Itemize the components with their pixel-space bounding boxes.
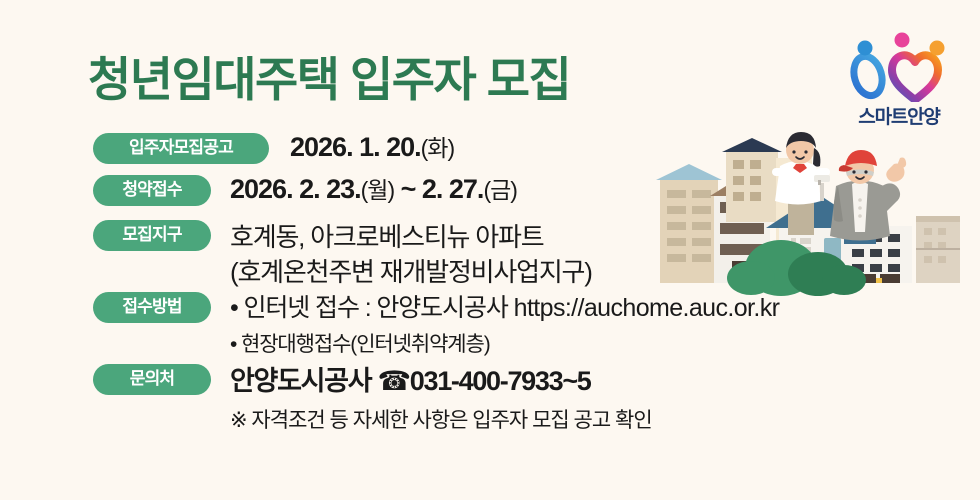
logo-heart-shape [892,55,938,100]
logo-loop-shape [850,53,887,99]
apply-period: 2026. 2. 23.(월) ~ 2. 27.(금) [230,175,517,203]
badge-apply: 청약접수 [93,175,211,206]
apply-start-dow: (월) [361,177,394,203]
notice-date-value: 2026. 1. 20. [290,132,421,162]
row-notice: 입주자모집공고 2026. 1. 20.(화) [93,133,454,164]
apply-end-date: ~ 2. 27. [394,174,483,204]
thumbs-up-hand [886,158,906,182]
badge-contact: 문의처 [93,364,211,395]
logo-dot-orange [930,41,945,56]
row-contact: 문의처 안양도시공사 ☎031-400-7933~5 ※ 자격조건 등 자세한 … [93,364,652,434]
logo-dot-blue [858,41,873,56]
building-right-tower [916,216,960,283]
smart-anyang-logo-text: 스마트안양 [838,102,960,129]
poster-canvas: 청년임대주택 입주자 모집 입주자모집공고 2026. 1. 20.(화) 청약… [0,0,980,500]
contact-phone: 안양도시공사 ☎031-400-7933~5 [230,364,652,399]
badge-method: 접수방법 [93,292,211,323]
smart-anyang-logo-mark [838,30,960,102]
notice-date: 2026. 1. 20.(화) [290,133,454,161]
district-value: 호계동, 아크로베스티뉴 아파트 (호계온천주변 재개발정비사업지구) [230,220,592,290]
badge-district: 모집지구 [93,220,211,251]
logo-dot-pink [895,33,910,48]
row-apply: 청약접수 2026. 2. 23.(월) ~ 2. 27.(금) [93,175,517,206]
district-line-1: 호계동, 아크로베스티뉴 아파트 [230,220,592,255]
city-illustration-svg [648,128,980,303]
apply-end-dow: (금) [483,177,516,203]
contact-value: 안양도시공사 ☎031-400-7933~5 ※ 자격조건 등 자세한 사항은 … [230,364,652,434]
building-left-apartment [656,164,722,283]
contact-footnote: ※ 자격조건 등 자세한 사항은 입주자 모집 공고 확인 [230,407,652,434]
method-online-label: • 인터넷 접수 : 안양도시공사 [230,294,514,322]
page-title: 청년임대주택 입주자 모집 [88,56,570,103]
apply-start-date: 2026. 2. 23. [230,174,361,204]
badge-notice: 입주자모집공고 [93,133,269,164]
smart-anyang-logo: 스마트안양 [838,30,960,135]
building-navy-roof [722,138,782,222]
row-district: 모집지구 호계동, 아크로베스티뉴 아파트 (호계온천주변 재개발정비사업지구) [93,220,592,290]
city-illustration [648,128,980,303]
method-line-offline: • 현장대행접수(인터넷취약계층) [230,331,779,358]
notice-date-dow: (화) [421,135,454,161]
district-line-2: (호계온천주변 재개발정비사업지구) [230,255,592,290]
